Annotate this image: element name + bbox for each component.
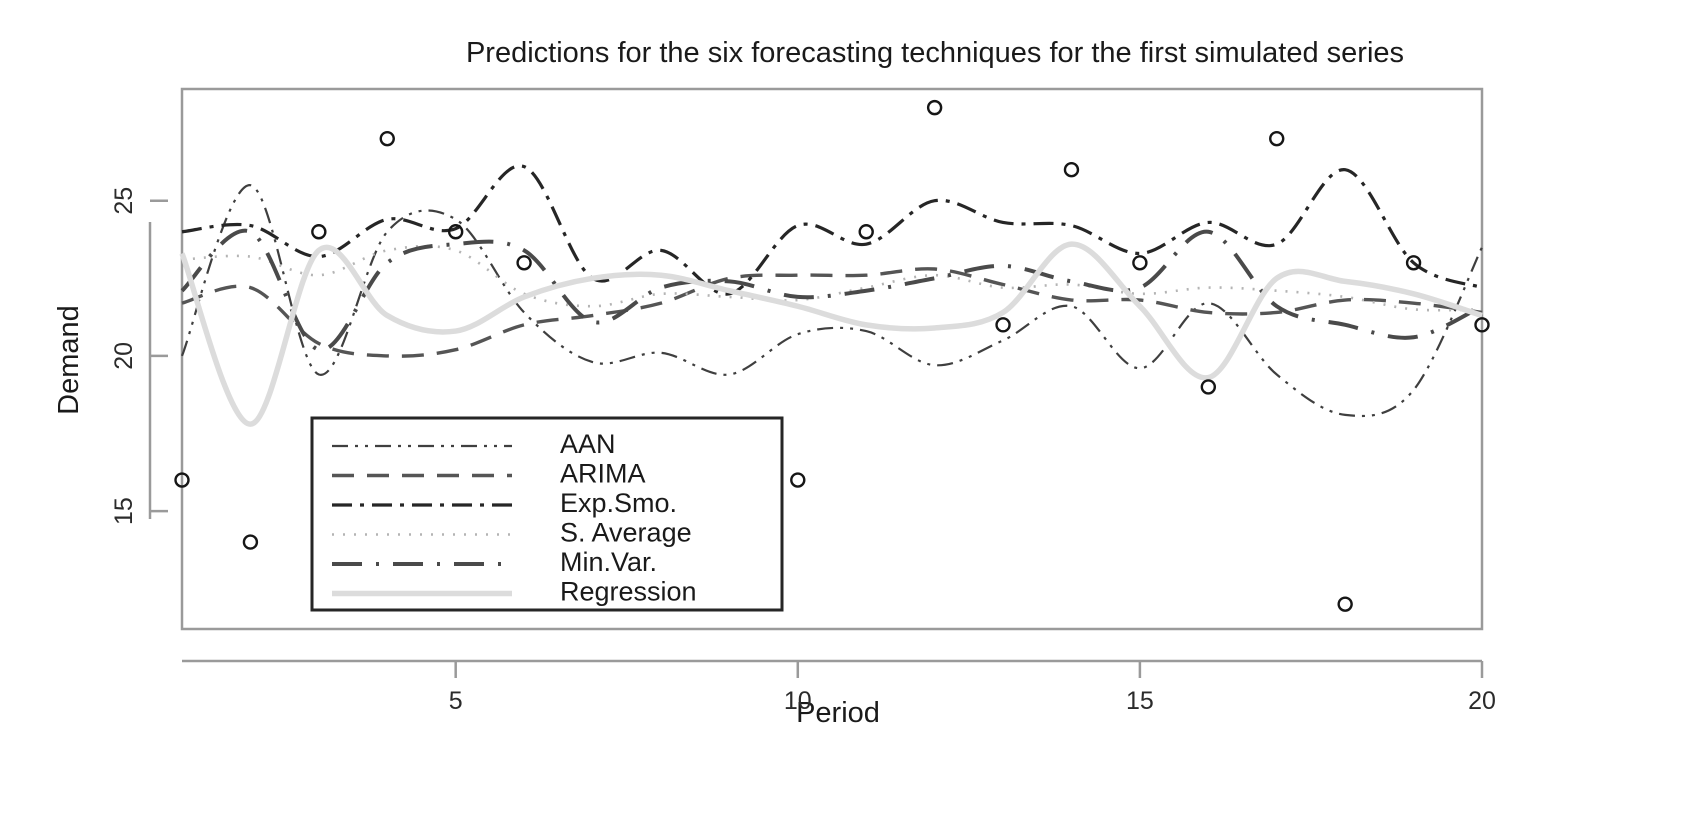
legend-label-s-average[interactable]: S. Average bbox=[560, 518, 692, 548]
observation-marker bbox=[1065, 163, 1078, 176]
series-group bbox=[182, 166, 1482, 424]
y-axis-title: Demand bbox=[53, 305, 85, 415]
x-tick-group: 5101520 bbox=[449, 661, 1496, 715]
x-tick-label: 15 bbox=[1126, 687, 1154, 715]
observation-marker bbox=[1339, 598, 1352, 611]
observation-marker bbox=[860, 225, 873, 238]
y-axis: 152025 bbox=[110, 187, 168, 525]
legend-label-arima[interactable]: ARIMA bbox=[560, 459, 646, 489]
x-tick-label: 20 bbox=[1468, 687, 1496, 715]
chart-legend[interactable]: AANARIMAExp.Smo.S. AverageMin.Var.Regres… bbox=[312, 418, 782, 610]
forecast-line-chart: Predictions for the six forecasting tech… bbox=[0, 0, 1698, 816]
chart-title: Predictions for the six forecasting tech… bbox=[466, 37, 1404, 69]
y-tick-label: 15 bbox=[110, 497, 138, 525]
observation-marker bbox=[381, 132, 394, 145]
observation-marker bbox=[518, 256, 531, 269]
observation-marker bbox=[244, 536, 257, 549]
legend-label-min-var[interactable]: Min.Var. bbox=[560, 547, 657, 577]
x-tick-label: 5 bbox=[449, 687, 463, 715]
observation-marker bbox=[1270, 132, 1283, 145]
legend-label-regression[interactable]: Regression bbox=[560, 577, 697, 607]
observation-marker bbox=[791, 474, 804, 487]
series-line-s-average bbox=[182, 246, 1482, 310]
y-tick-group: 152025 bbox=[110, 187, 168, 525]
observation-marker bbox=[1202, 380, 1215, 393]
legend-label-aan[interactable]: AAN bbox=[560, 429, 616, 459]
series-line-aan bbox=[182, 185, 1482, 416]
observation-marker bbox=[1133, 256, 1146, 269]
y-tick-label: 25 bbox=[110, 187, 138, 215]
chart-figure: Predictions for the six forecasting tech… bbox=[0, 0, 1698, 816]
x-tick-label: 10 bbox=[784, 687, 812, 715]
observation-marker bbox=[928, 101, 941, 114]
legend-label-exp-smo[interactable]: Exp.Smo. bbox=[560, 488, 677, 518]
y-tick-label: 20 bbox=[110, 342, 138, 370]
observation-marker bbox=[312, 225, 325, 238]
observation-marker bbox=[997, 318, 1010, 331]
